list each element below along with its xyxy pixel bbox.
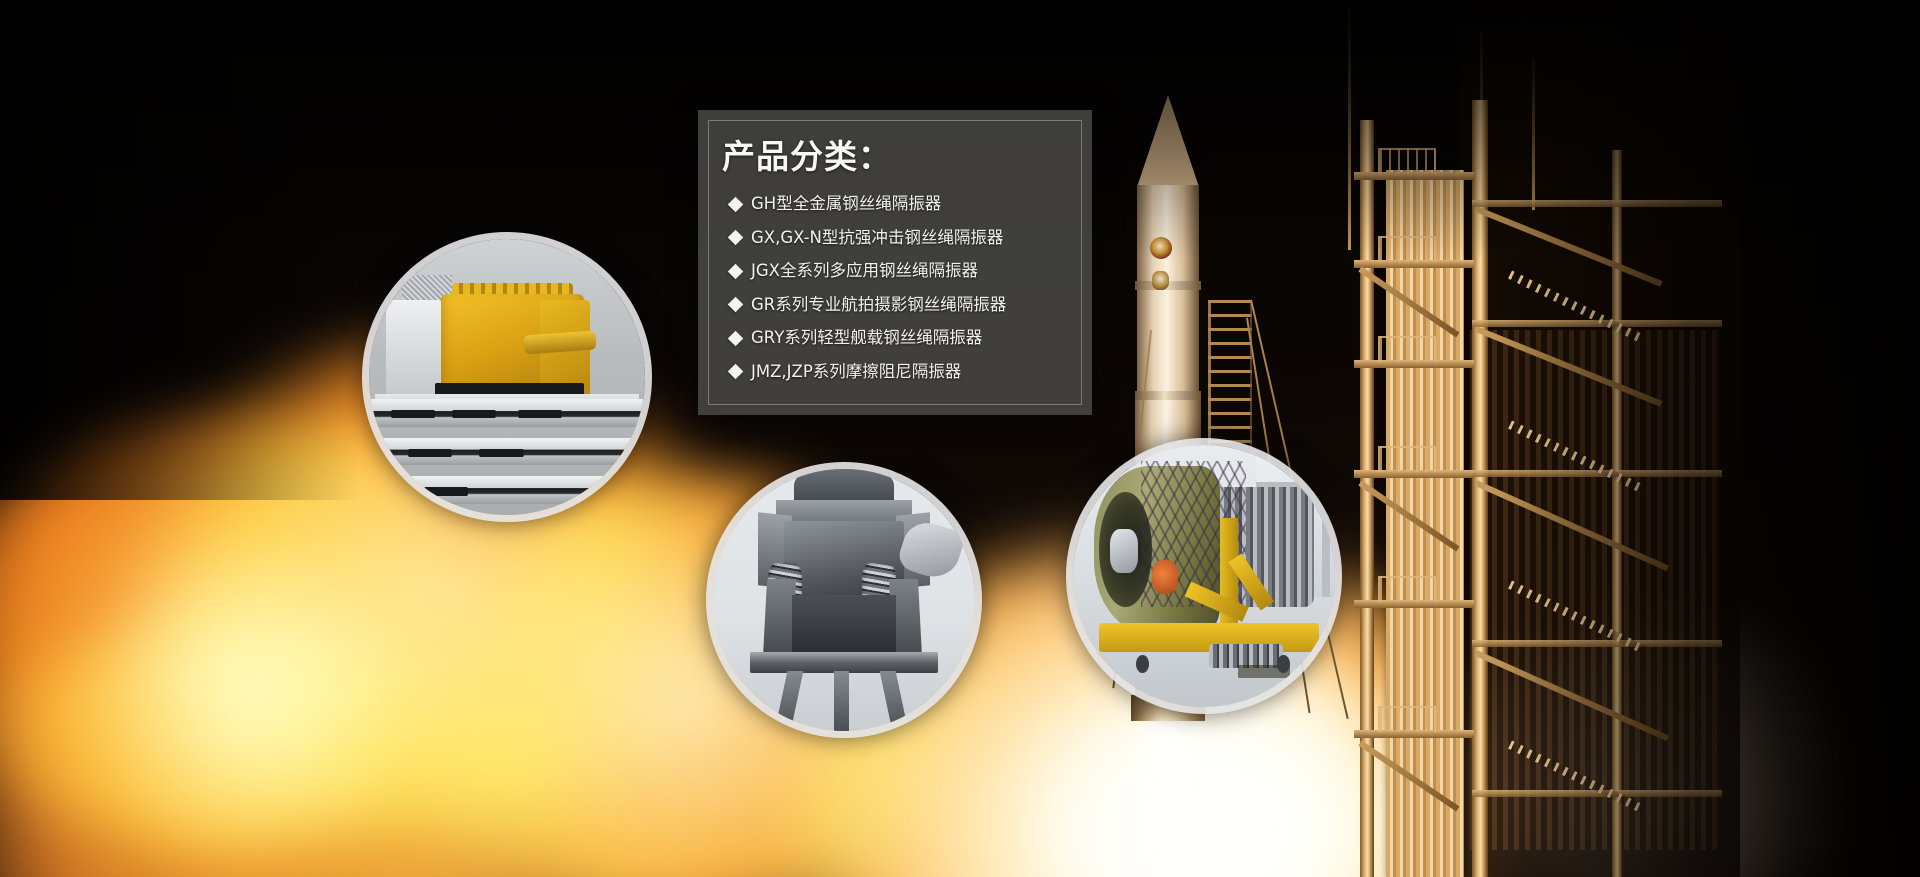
generator-isolator	[479, 449, 523, 457]
tower-railing	[1378, 576, 1436, 602]
diamond-bullet-icon	[728, 196, 744, 212]
agency-logo-icon	[1152, 271, 1169, 290]
banner-stage: Delta	[0, 0, 1920, 877]
isolator-mid-block	[792, 595, 897, 653]
page-title: 产品分类：	[722, 130, 892, 178]
list-item-label: GRY系列轻型舰载钢丝绳隔振器	[751, 330, 982, 347]
list-item-label: GH型全金属钢丝绳隔振器	[751, 196, 941, 213]
list-item[interactable]: GX,GX-N型抗强冲击钢丝绳隔振器	[730, 230, 1078, 247]
generator-rail	[369, 476, 645, 504]
isolator-stand-leg	[834, 671, 850, 731]
generator-control-box	[386, 300, 441, 394]
cart-wheel	[1136, 655, 1149, 673]
list-item-label: JGX全系列多应用钢丝绳隔振器	[751, 263, 978, 280]
list-item[interactable]: JGX全系列多应用钢丝绳隔振器	[730, 263, 1078, 280]
diamond-bullet-icon	[728, 364, 744, 380]
left-vignette	[0, 0, 360, 500]
list-item[interactable]: JMZ,JZP系列摩擦阻尼隔振器	[730, 364, 1078, 381]
photo-content	[713, 469, 975, 731]
list-item-label: GX,GX-N型抗强冲击钢丝绳隔振器	[751, 230, 1003, 247]
diamond-bullet-icon	[728, 297, 744, 313]
tower-railing	[1378, 446, 1436, 472]
generator-isolator	[424, 487, 468, 495]
diesel-generator-photo	[362, 232, 652, 522]
list-item[interactable]: GH型全金属钢丝绳隔振器	[730, 196, 1078, 213]
product-category-panel: 产品分类： GH型全金属钢丝绳隔振器 GX,GX-N型抗强冲击钢丝绳隔振器 JG…	[698, 110, 1092, 415]
product-category-list: GH型全金属钢丝绳隔振器 GX,GX-N型抗强冲击钢丝绳隔振器 JGX全系列多应…	[730, 196, 1078, 397]
generator-isolator	[518, 410, 562, 418]
diamond-bullet-icon	[728, 263, 744, 279]
photo-content	[1073, 445, 1335, 707]
isolator-stand-leg	[775, 671, 804, 731]
list-item[interactable]: GRY系列轻型舰载钢丝绳隔振器	[730, 330, 1078, 347]
wire-rope-isolator-photo	[706, 462, 982, 738]
turbine-accessory	[1152, 560, 1178, 594]
list-item[interactable]: GR系列专业航拍摄影钢丝绳隔振器	[730, 297, 1078, 314]
generator-isolator	[408, 449, 452, 457]
tower-railing	[1378, 336, 1436, 362]
turbine-engine-photo	[1066, 438, 1342, 714]
right-vignette	[1500, 0, 1920, 877]
list-item-label: JMZ,JZP系列摩擦阻尼隔振器	[751, 364, 961, 381]
generator-isolator	[391, 410, 435, 418]
diamond-bullet-icon	[728, 230, 744, 246]
diamond-bullet-icon	[728, 330, 744, 346]
generator-isolator	[452, 410, 496, 418]
photo-content	[369, 239, 645, 515]
workshop-beam	[1322, 471, 1330, 597]
turbine-hub	[1110, 529, 1139, 574]
tower-railing	[1378, 706, 1436, 732]
engine-flame	[1133, 711, 1203, 831]
isolator-stand-leg	[880, 671, 909, 731]
list-item-label: GR系列专业航拍摄影钢丝绳隔振器	[751, 297, 1006, 314]
